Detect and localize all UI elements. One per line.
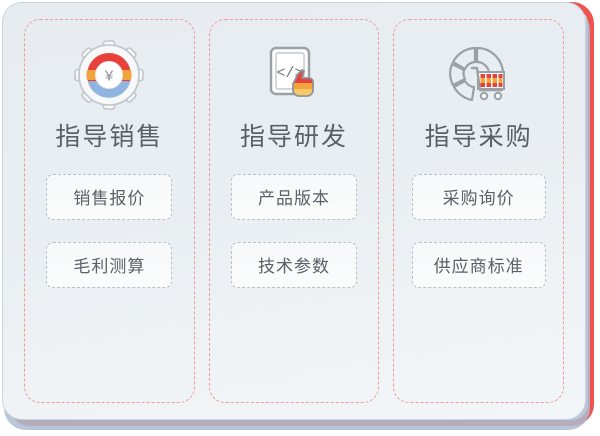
donut-cart-icon	[439, 38, 519, 112]
column-guide-sales[interactable]: ¥ 指导销售 销售报价 毛利测算	[24, 19, 195, 403]
chip-procurement-inquiry[interactable]: 采购询价	[412, 174, 546, 220]
chip-gross-profit-calc[interactable]: 毛利测算	[46, 242, 172, 288]
column-guide-rnd[interactable]: </> 指导研发 产品版本 技术参数	[209, 19, 380, 403]
code-tablet-hand-icon: </>	[254, 38, 334, 112]
chip-technical-parameters[interactable]: 技术参数	[231, 242, 357, 288]
gear-yen-icon: ¥	[69, 38, 149, 112]
column-guide-procurement[interactable]: 指导采购 采购询价 供应商标准	[393, 19, 564, 403]
column-title: 指导销售	[55, 124, 163, 152]
guidance-panel: ¥ 指导销售 销售报价 毛利测算 </>	[2, 2, 586, 420]
chip-product-version[interactable]: 产品版本	[231, 174, 357, 220]
column-title: 指导采购	[425, 124, 533, 152]
chip-supplier-standards[interactable]: 供应商标准	[412, 242, 546, 288]
diagram-stage: ¥ 指导销售 销售报价 毛利测算 </>	[0, 0, 600, 436]
chip-sales-quotation[interactable]: 销售报价	[46, 174, 172, 220]
column-title: 指导研发	[240, 124, 348, 152]
svg-text:¥: ¥	[104, 68, 114, 85]
